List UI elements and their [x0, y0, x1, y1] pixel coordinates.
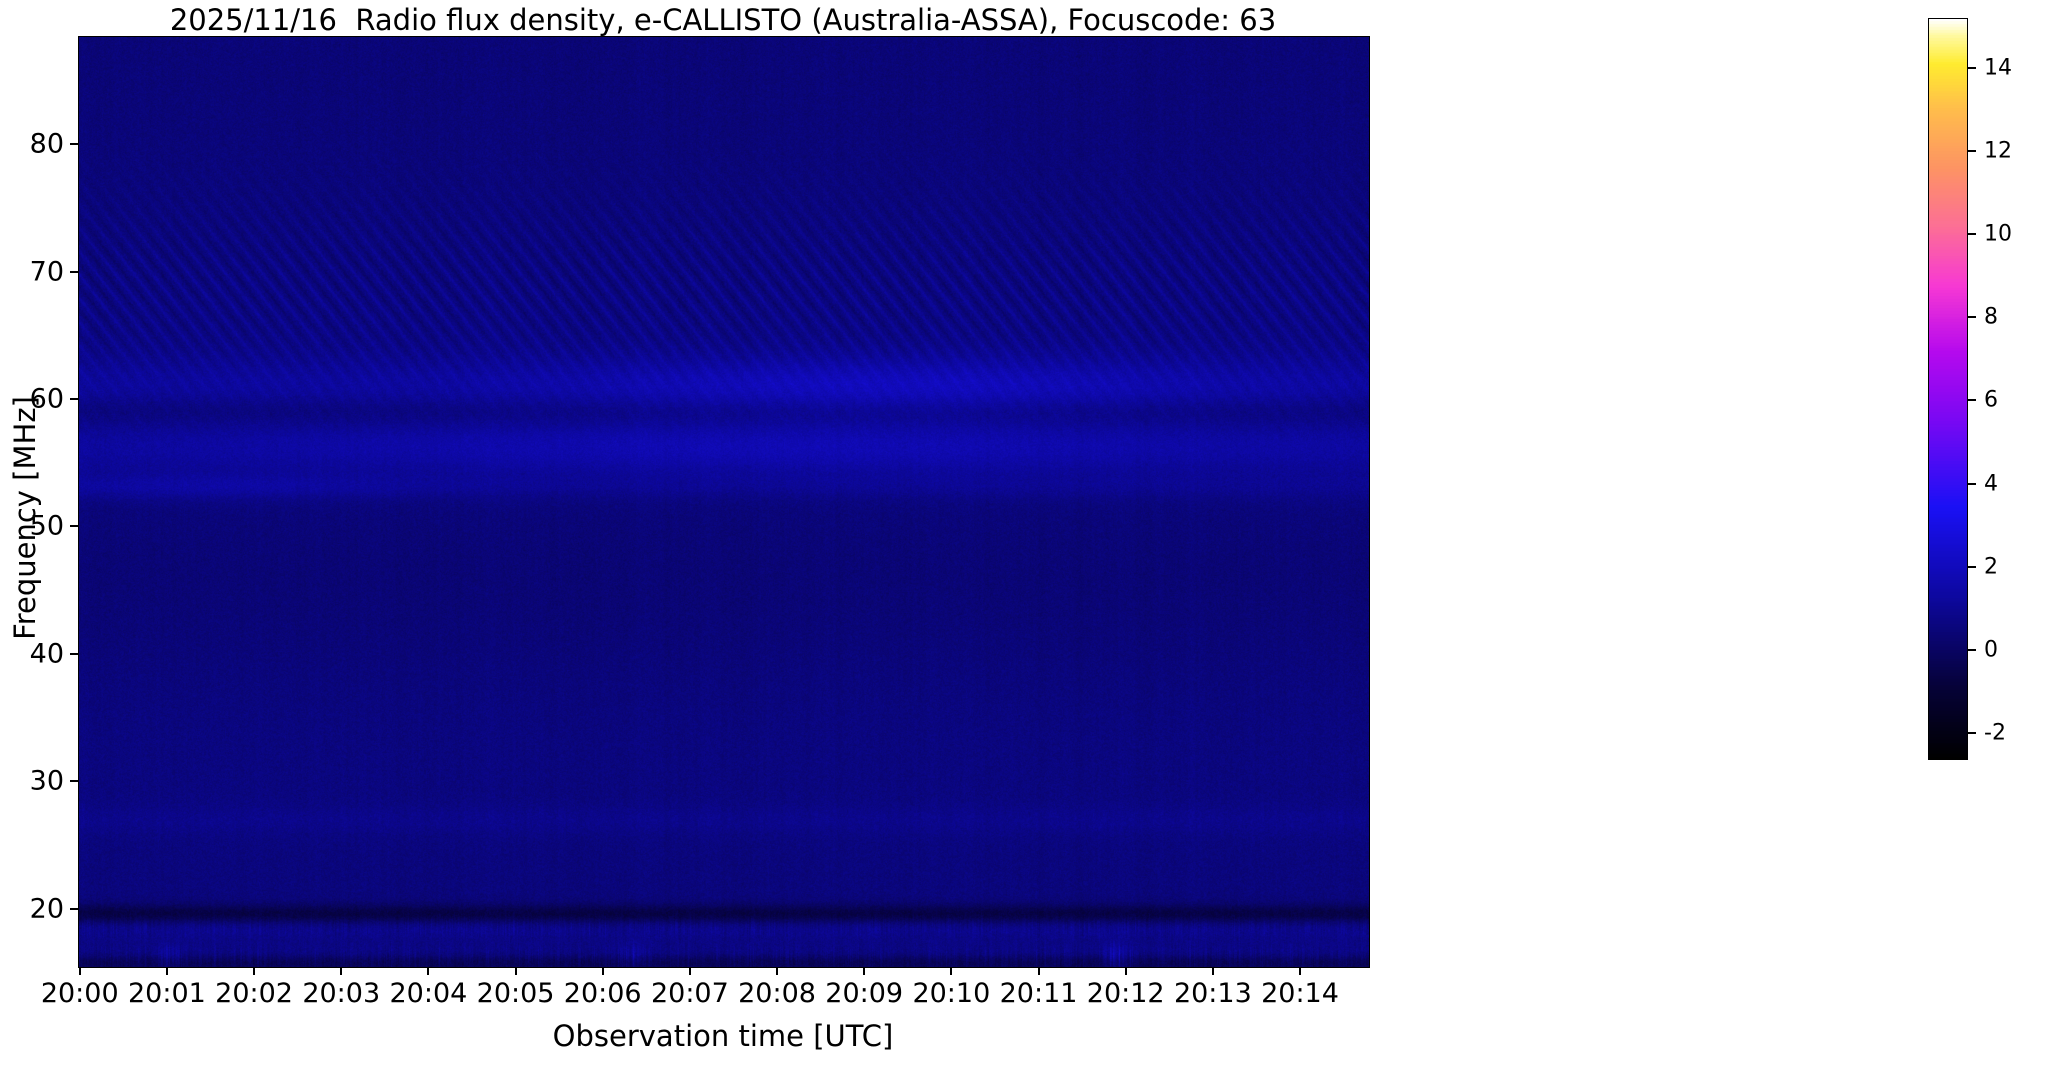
spectrogram-plot-area[interactable] — [78, 36, 1370, 968]
x-axis-tick-label: 20:07 — [651, 978, 729, 1009]
x-axis-tick-mark — [79, 967, 81, 975]
x-axis-tick-mark — [950, 967, 952, 975]
x-axis-tick-mark — [340, 967, 342, 975]
y-axis-tick-label: 70 — [30, 256, 64, 287]
x-axis-tick-label: 20:10 — [912, 978, 990, 1009]
colorbar-tick-mark — [1968, 233, 1976, 235]
x-axis-tick-mark — [776, 967, 778, 975]
x-axis-tick-label: 20:09 — [825, 978, 903, 1009]
colorbar-tick-label: 4 — [1984, 471, 1998, 496]
x-axis-tick-mark — [602, 967, 604, 975]
figure-title: 2025/11/16 Radio flux density, e-CALLIST… — [78, 4, 1368, 36]
y-axis-tick-label: 20 — [30, 893, 64, 924]
y-axis-tick-mark — [70, 143, 78, 145]
colorbar-tick-mark — [1968, 150, 1976, 152]
x-axis-tick-mark — [515, 967, 517, 975]
colorbar-tick-mark — [1968, 399, 1976, 401]
y-axis-tick-label: 50 — [30, 511, 64, 542]
colorbar-tick-label: 6 — [1984, 388, 1998, 413]
y-axis-tick-label: 40 — [30, 638, 64, 669]
colorbar-tick-label: 10 — [1984, 222, 2012, 247]
spectrogram-figure: 2025/11/16 Radio flux density, e-CALLIST… — [0, 0, 2047, 1067]
y-axis-tick-mark — [70, 780, 78, 782]
y-axis-tick-mark — [70, 271, 78, 273]
colorbar-tick-label: -2 — [1984, 721, 2006, 746]
colorbar-tick-label: 2 — [1984, 554, 1998, 579]
x-axis-tick-label: 20:04 — [389, 978, 467, 1009]
colorbar-tick-label: 12 — [1984, 139, 2012, 164]
spectrogram-image — [79, 37, 1369, 967]
colorbar-tick-mark — [1968, 483, 1976, 485]
colorbar-tick-mark — [1968, 732, 1976, 734]
x-axis-tick-mark — [253, 967, 255, 975]
x-axis-tick-label: 20:05 — [477, 978, 555, 1009]
y-axis-tick-label: 80 — [30, 129, 64, 160]
x-axis-tick-label: 20:14 — [1261, 978, 1339, 1009]
x-axis-tick-mark — [1212, 967, 1214, 975]
colorbar-tick-mark — [1968, 649, 1976, 651]
x-axis-tick-mark — [1038, 967, 1040, 975]
x-axis-tick-label: 20:02 — [215, 978, 293, 1009]
y-axis-tick-label: 60 — [30, 384, 64, 415]
x-axis-tick-label: 20:03 — [302, 978, 380, 1009]
y-axis-tick-label: 30 — [30, 766, 64, 797]
x-axis-tick-label: 20:00 — [41, 978, 119, 1009]
colorbar-tick-label: 14 — [1984, 55, 2012, 80]
y-axis-tick-mark — [70, 525, 78, 527]
colorbar-tick-mark — [1968, 67, 1976, 69]
x-axis-tick-label: 20:08 — [738, 978, 816, 1009]
colorbar-tick-label: 0 — [1984, 637, 1998, 662]
x-axis-tick-mark — [689, 967, 691, 975]
x-axis-tick-mark — [166, 967, 168, 975]
y-axis-tick-mark — [70, 908, 78, 910]
x-axis-tick-label: 20:12 — [1087, 978, 1165, 1009]
x-axis-tick-mark — [863, 967, 865, 975]
x-axis-tick-mark — [1125, 967, 1127, 975]
x-axis-tick-label: 20:01 — [128, 978, 206, 1009]
x-axis-tick-label: 20:11 — [1000, 978, 1078, 1009]
x-axis-tick-mark — [1299, 967, 1301, 975]
x-axis-tick-label: 20:13 — [1174, 978, 1252, 1009]
y-axis-tick-mark — [70, 398, 78, 400]
colorbar-tick-mark — [1968, 566, 1976, 568]
colorbar-tick-label: 8 — [1984, 305, 1998, 330]
x-axis-tick-label: 20:06 — [564, 978, 642, 1009]
y-axis-tick-mark — [70, 653, 78, 655]
colorbar-tick-mark — [1968, 316, 1976, 318]
colorbar — [1928, 18, 1968, 760]
colorbar-gradient — [1929, 19, 1967, 759]
x-axis-tick-mark — [427, 967, 429, 975]
x-axis-label: Observation time [UTC] — [78, 1019, 1368, 1053]
